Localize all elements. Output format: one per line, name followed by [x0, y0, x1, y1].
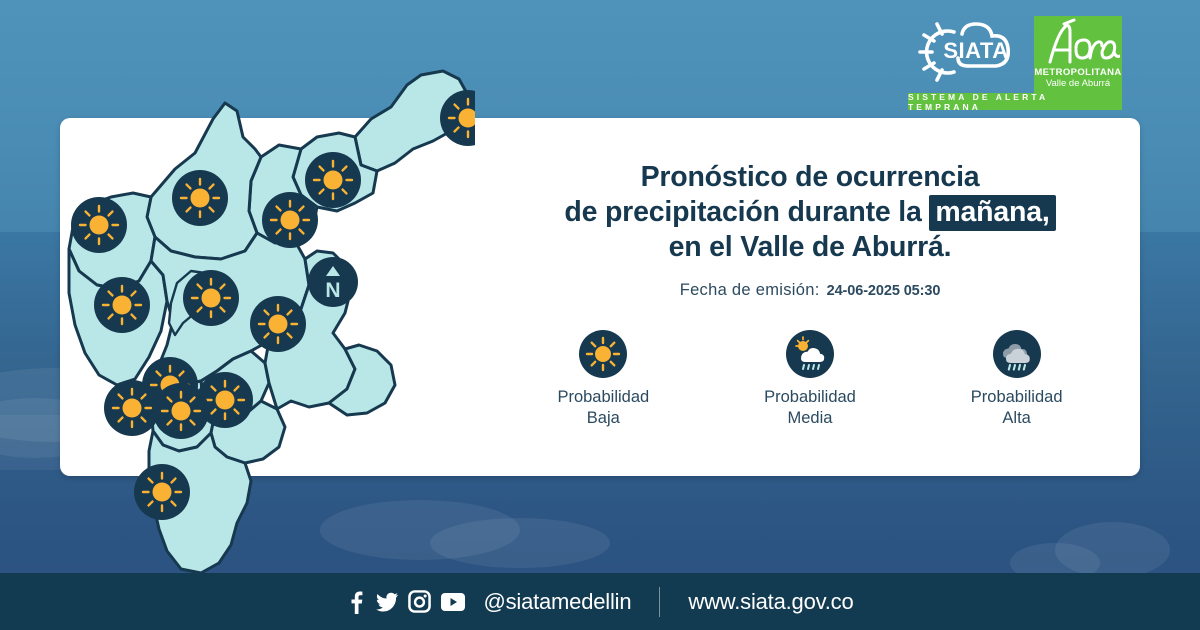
legend-alta-line2: Alta — [971, 408, 1063, 429]
tagline-strip: SISTEMA DE ALERTA TEMPRANA — [908, 93, 1122, 110]
title-highlight: mañana, — [929, 195, 1055, 231]
sun-cloud-rain-icon — [786, 330, 834, 378]
legend-item-baja: Probabilidad Baja — [518, 330, 688, 429]
infographic-stage: N SIATA — [0, 0, 1200, 630]
siata-logo: SIATA — [906, 16, 1024, 88]
area-logo-line1: METROPOLITANA — [1034, 68, 1121, 78]
facebook-icon[interactable] — [346, 590, 366, 614]
twitter-icon[interactable] — [375, 590, 399, 614]
youtube-icon[interactable] — [440, 592, 466, 612]
probability-legend: Probabilidad Baja — [500, 330, 1120, 429]
legend-label-media: Probabilidad Media — [764, 387, 856, 429]
footer-bar: @siatamedellin www.siata.gov.co — [0, 573, 1200, 630]
area-metropolitana-logo: METROPOLITANA Valle de Aburrá — [1034, 16, 1122, 94]
title-line-2: de precipitación durante la mañana, — [500, 195, 1120, 230]
footer-divider — [659, 587, 660, 617]
svg-text:SIATA: SIATA — [943, 38, 1008, 63]
legend-label-alta: Probabilidad Alta — [971, 387, 1063, 429]
social-icons — [346, 590, 466, 614]
headline-panel: Pronóstico de ocurrencia de precipitació… — [500, 160, 1120, 300]
logo-group: SIATA METROPOLITANA Valle de Aburrá — [906, 16, 1122, 94]
legend-label-baja: Probabilidad Baja — [557, 387, 649, 429]
emission-date-label: Fecha de emisión: — [680, 281, 820, 300]
legend-alta-line1: Probabilidad — [971, 387, 1063, 408]
emission-date: Fecha de emisión: 24-06-2025 05:30 — [500, 281, 1120, 300]
title-line-2-pre: de precipitación durante la — [564, 196, 929, 228]
legend-baja-line2: Baja — [557, 408, 649, 429]
cloud-rain-icon — [993, 330, 1041, 378]
background-cloud-mid-2 — [430, 518, 610, 568]
tagline-text: SISTEMA DE ALERTA TEMPRANA — [908, 92, 1122, 112]
legend-item-alta: Probabilidad Alta — [932, 330, 1102, 429]
emission-date-value: 24-06-2025 05:30 — [827, 283, 941, 299]
instagram-icon[interactable] — [408, 590, 431, 613]
legend-baja-line1: Probabilidad — [557, 387, 649, 408]
legend-media-line1: Probabilidad — [764, 387, 856, 408]
area-logo-line2: Valle de Aburrá — [1046, 78, 1110, 89]
page-title: Pronóstico de ocurrencia de precipitació… — [500, 160, 1120, 265]
legend-media-line2: Media — [764, 408, 856, 429]
area-script-icon — [1036, 18, 1120, 68]
title-line-3: en el Valle de Aburrá. — [500, 230, 1120, 265]
legend-item-media: Probabilidad Media — [725, 330, 895, 429]
sun-icon — [579, 330, 627, 378]
website-url[interactable]: www.siata.gov.co — [688, 589, 853, 615]
title-line-1: Pronóstico de ocurrencia — [500, 160, 1120, 195]
social-handle[interactable]: @siatamedellin — [483, 589, 631, 615]
